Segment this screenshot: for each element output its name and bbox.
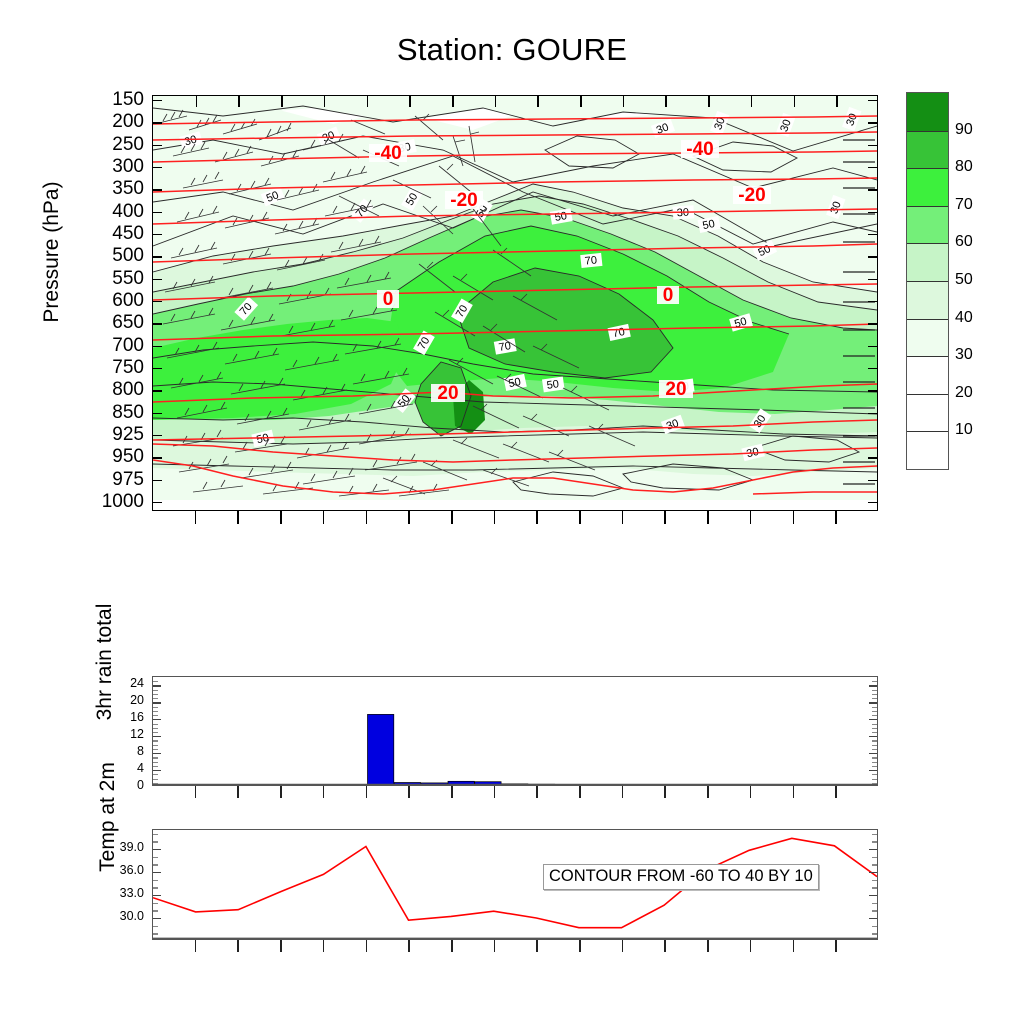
rain-minor-tick bbox=[153, 762, 158, 763]
rain-minor-tick bbox=[153, 783, 158, 784]
rain-minor-tick bbox=[872, 762, 877, 763]
rain-tick bbox=[869, 702, 877, 703]
svg-text:50: 50 bbox=[554, 210, 568, 224]
svg-text:-20: -20 bbox=[738, 185, 765, 206]
temp-minor-tick bbox=[153, 864, 158, 865]
pressure-tick bbox=[868, 457, 877, 458]
colorbar-tick-label: 70 bbox=[955, 196, 973, 214]
temp-minor-tick bbox=[872, 887, 877, 888]
pressure-tick bbox=[153, 346, 162, 347]
pressure-tick-label: 550 bbox=[112, 269, 144, 288]
temp-minor-tick bbox=[872, 910, 877, 911]
temp-tick-label: 33.0 bbox=[120, 887, 144, 900]
svg-text:-40: -40 bbox=[686, 139, 713, 160]
rain-tick-label: 8 bbox=[137, 745, 144, 758]
svg-text:20: 20 bbox=[437, 383, 458, 404]
colorbar-segment bbox=[907, 206, 948, 244]
pressure-tick bbox=[868, 100, 877, 101]
colorbar-segment bbox=[907, 431, 948, 469]
time-tick bbox=[280, 511, 282, 524]
pressure-tick-label: 300 bbox=[112, 157, 144, 176]
pressure-tick bbox=[153, 167, 162, 168]
pressure-tick-label: 450 bbox=[112, 224, 144, 243]
pressure-tick bbox=[153, 480, 162, 481]
temp-minor-tick bbox=[872, 926, 877, 927]
rain-time-tick bbox=[793, 786, 795, 798]
pressure-tick-label: 400 bbox=[112, 202, 144, 221]
temp-minor-tick bbox=[153, 857, 158, 858]
temp-time-tick bbox=[622, 940, 624, 952]
rain-minor-tick bbox=[872, 732, 877, 733]
colorbar-tick-label: 60 bbox=[955, 233, 973, 251]
time-tick-top bbox=[623, 96, 625, 107]
time-tick bbox=[237, 511, 239, 524]
colorbar-segment bbox=[907, 131, 948, 169]
colorbar-divider bbox=[907, 243, 948, 244]
rain-minor-tick bbox=[153, 690, 158, 691]
rain-minor-tick bbox=[872, 694, 877, 695]
time-tick bbox=[451, 511, 453, 524]
colorbar-tick-label: 50 bbox=[955, 271, 973, 289]
rain-panel bbox=[152, 676, 878, 786]
rain-minor-tick bbox=[872, 711, 877, 712]
colorbar-divider bbox=[907, 131, 948, 132]
time-tick-top bbox=[281, 96, 283, 107]
pressure-tick bbox=[868, 346, 877, 347]
pressure-tick bbox=[153, 435, 162, 436]
rain-tick-label: 20 bbox=[130, 694, 144, 707]
rain-time-tick bbox=[494, 786, 496, 798]
temp-tick bbox=[869, 918, 877, 919]
colorbar-segment bbox=[907, 356, 948, 394]
temp-minor-tick bbox=[153, 887, 158, 888]
colorbar-divider bbox=[907, 356, 948, 357]
pressure-tick bbox=[153, 145, 162, 146]
rain-tick-label: 24 bbox=[130, 677, 144, 690]
rain-tick bbox=[869, 770, 877, 771]
pressure-tick bbox=[868, 301, 877, 302]
colorbar-divider bbox=[907, 319, 948, 320]
rain-time-tick bbox=[366, 786, 368, 798]
temp-time-tick bbox=[664, 940, 666, 952]
pressure-tick-label: 800 bbox=[112, 380, 144, 399]
rain-tick bbox=[153, 702, 161, 703]
temp-minor-tick bbox=[153, 880, 158, 881]
rain-minor-tick bbox=[872, 707, 877, 708]
colorbar-tick-label: 10 bbox=[955, 421, 973, 439]
temp-time-tick bbox=[195, 940, 197, 952]
rain-minor-tick bbox=[872, 740, 877, 741]
rain-minor-tick bbox=[153, 740, 158, 741]
time-tick bbox=[622, 511, 624, 524]
pressure-tick bbox=[153, 413, 162, 414]
rain-minor-tick bbox=[153, 707, 158, 708]
rain-tick bbox=[153, 685, 161, 686]
time-tick-top bbox=[196, 96, 198, 107]
svg-text:0: 0 bbox=[663, 285, 674, 306]
rain-tick-label: 16 bbox=[130, 711, 144, 724]
temp-minor-tick bbox=[872, 903, 877, 904]
temp-tick bbox=[153, 872, 161, 873]
colorbar-divider bbox=[907, 206, 948, 207]
temp-minor-tick bbox=[872, 933, 877, 934]
rain-minor-tick bbox=[153, 766, 158, 767]
rain-time-tick bbox=[408, 786, 410, 798]
rain-tick bbox=[153, 736, 161, 737]
colorbar-tick-label: 80 bbox=[955, 158, 973, 176]
rain-minor-tick bbox=[872, 681, 877, 682]
rain-tick-label: 0 bbox=[137, 779, 144, 792]
svg-text:50: 50 bbox=[508, 376, 522, 390]
temp-minor-tick bbox=[153, 933, 158, 934]
temp-minor-tick bbox=[153, 834, 158, 835]
rain-time-tick bbox=[622, 786, 624, 798]
pressure-tick-label: 975 bbox=[112, 470, 144, 489]
temp-tick bbox=[153, 918, 161, 919]
pressure-axis-labels: 1502002503003504004505005506006507007508… bbox=[62, 95, 144, 511]
rain-minor-tick bbox=[872, 745, 877, 746]
rain-minor-tick bbox=[872, 774, 877, 775]
colorbar-segment bbox=[907, 394, 948, 432]
pressure-tick-label: 925 bbox=[112, 425, 144, 444]
rain-tick-label: 4 bbox=[137, 762, 144, 775]
temp-axis-labels: 30.033.036.039.0 bbox=[86, 829, 144, 940]
time-tick bbox=[366, 511, 368, 524]
time-tick-top bbox=[495, 96, 497, 107]
svg-text:20: 20 bbox=[665, 379, 686, 400]
rain-time-tick bbox=[536, 786, 538, 798]
temp-time-tick bbox=[323, 940, 325, 952]
time-tick-top bbox=[238, 96, 240, 107]
rain-minor-tick bbox=[153, 774, 158, 775]
time-tick-top bbox=[794, 96, 796, 107]
time-tick-top bbox=[537, 96, 539, 107]
time-tick bbox=[408, 511, 410, 524]
temp-time-tick bbox=[408, 940, 410, 952]
time-tick bbox=[536, 511, 538, 524]
pressure-tick bbox=[868, 167, 877, 168]
colorbar-divider bbox=[907, 431, 948, 432]
colorbar-divider bbox=[907, 281, 948, 282]
rain-minor-tick bbox=[872, 690, 877, 691]
svg-text:50: 50 bbox=[702, 218, 716, 232]
cross-section-plot-area: 30 30 30 30 30 30 30 30 30 50 50 50 50 5… bbox=[152, 95, 878, 511]
pressure-tick bbox=[153, 122, 162, 123]
temp-minor-tick bbox=[872, 834, 877, 835]
pressure-tick bbox=[153, 323, 162, 324]
colorbar-segment bbox=[907, 243, 948, 281]
rain-time-tick bbox=[664, 786, 666, 798]
pressure-tick bbox=[868, 368, 877, 369]
pressure-tick bbox=[868, 435, 877, 436]
rain-minor-tick bbox=[153, 728, 158, 729]
pressure-tick-label: 350 bbox=[112, 179, 144, 198]
colorbar-tick-label: 20 bbox=[955, 384, 973, 402]
temp-tick bbox=[153, 895, 161, 896]
time-tick-top bbox=[452, 96, 454, 107]
rain-time-tick bbox=[195, 786, 197, 798]
rain-minor-tick bbox=[153, 732, 158, 733]
rain-tick-label: 12 bbox=[130, 728, 144, 741]
svg-text:-40: -40 bbox=[374, 143, 401, 164]
pressure-tick-label: 500 bbox=[112, 246, 144, 265]
temp-minor-tick bbox=[872, 864, 877, 865]
colorbar bbox=[906, 92, 949, 470]
rain-minor-tick bbox=[153, 724, 158, 725]
temp-tick-label: 39.0 bbox=[120, 841, 144, 854]
temp-minor-tick bbox=[153, 903, 158, 904]
humidity-temperature-wind-plot: 30 30 30 30 30 30 30 30 30 50 50 50 50 5… bbox=[153, 96, 877, 510]
temp-time-tick bbox=[707, 940, 709, 952]
time-tick-top bbox=[580, 96, 582, 107]
rain-minor-tick bbox=[153, 681, 158, 682]
time-tick bbox=[664, 511, 666, 524]
rain-minor-tick bbox=[153, 711, 158, 712]
pressure-tick bbox=[153, 368, 162, 369]
pressure-tick bbox=[868, 256, 877, 257]
rain-time-tick bbox=[280, 786, 282, 798]
svg-text:0: 0 bbox=[383, 289, 394, 310]
pressure-tick bbox=[153, 301, 162, 302]
pressure-axis-title: Pressure (hPa) bbox=[40, 137, 64, 367]
rain-time-tick bbox=[237, 786, 239, 798]
pressure-tick-label: 150 bbox=[112, 90, 144, 109]
pressure-tick bbox=[153, 457, 162, 458]
temp-tick bbox=[869, 849, 877, 850]
colorbar-segment bbox=[907, 93, 948, 131]
temp-minor-tick bbox=[872, 857, 877, 858]
temp-time-tick bbox=[237, 940, 239, 952]
rain-time-tick bbox=[750, 786, 752, 798]
rain-minor-tick bbox=[872, 766, 877, 767]
pressure-tick bbox=[868, 502, 877, 503]
pressure-tick-label: 750 bbox=[112, 358, 144, 377]
rain-time-tick bbox=[835, 786, 837, 798]
pressure-tick-label: 200 bbox=[112, 112, 144, 131]
time-tick-top bbox=[409, 96, 411, 107]
colorbar-labels: 908070605040302010 bbox=[955, 92, 1015, 470]
pressure-tick-label: 1000 bbox=[102, 492, 144, 511]
rain-minor-tick bbox=[872, 724, 877, 725]
pressure-tick bbox=[868, 480, 877, 481]
pressure-tick bbox=[868, 279, 877, 280]
colorbar-tick-label: 90 bbox=[955, 121, 973, 139]
rain-minor-tick bbox=[153, 715, 158, 716]
rain-tick bbox=[153, 753, 161, 754]
pressure-tick bbox=[868, 122, 877, 123]
svg-text:70: 70 bbox=[612, 326, 626, 340]
pressure-tick bbox=[868, 145, 877, 146]
time-tick bbox=[835, 511, 837, 524]
temp-tick-label: 36.0 bbox=[120, 864, 144, 877]
time-tick-top bbox=[836, 96, 838, 107]
temp-time-tick bbox=[494, 940, 496, 952]
rain-tick bbox=[869, 736, 877, 737]
rain-tick bbox=[869, 719, 877, 720]
rain-tick bbox=[869, 685, 877, 686]
pressure-tick bbox=[153, 390, 162, 391]
colorbar-segment bbox=[907, 319, 948, 357]
time-tick bbox=[579, 511, 581, 524]
rain-time-tick bbox=[707, 786, 709, 798]
cross-section-panel: 30 30 30 30 30 30 30 30 30 50 50 50 50 5… bbox=[152, 95, 878, 511]
colorbar-divider bbox=[907, 394, 948, 395]
svg-text:50: 50 bbox=[546, 378, 560, 392]
rain-minor-tick bbox=[872, 749, 877, 750]
pressure-tick bbox=[153, 279, 162, 280]
rain-minor-tick bbox=[153, 779, 158, 780]
rain-minor-tick bbox=[872, 783, 877, 784]
pressure-tick-label: 600 bbox=[112, 291, 144, 310]
colorbar-segment bbox=[907, 281, 948, 319]
svg-text:30: 30 bbox=[676, 207, 689, 220]
rain-minor-tick bbox=[153, 698, 158, 699]
pressure-tick bbox=[868, 413, 877, 414]
temp-time-tick bbox=[366, 940, 368, 952]
pressure-tick bbox=[868, 212, 877, 213]
rain-tick bbox=[869, 753, 877, 754]
time-tick-top bbox=[708, 96, 710, 107]
colorbar-tick-label: 30 bbox=[955, 346, 973, 364]
svg-text:-20: -20 bbox=[450, 190, 477, 211]
time-tick bbox=[494, 511, 496, 524]
time-tick-top bbox=[665, 96, 667, 107]
temp-time-tick bbox=[536, 940, 538, 952]
rain-time-tick bbox=[451, 786, 453, 798]
rain-minor-tick bbox=[153, 745, 158, 746]
rain-bar-chart bbox=[153, 677, 877, 785]
colorbar-segment bbox=[907, 168, 948, 206]
temp-tick bbox=[869, 872, 877, 873]
pressure-tick bbox=[153, 100, 162, 101]
rain-minor-tick bbox=[153, 757, 158, 758]
pressure-tick bbox=[153, 256, 162, 257]
temp-time-tick bbox=[835, 940, 837, 952]
time-tick bbox=[323, 511, 325, 524]
pressure-tick-label: 850 bbox=[112, 403, 144, 422]
pressure-tick-label: 250 bbox=[112, 135, 144, 154]
contour-annotation: CONTOUR FROM -60 TO 40 BY 10 bbox=[543, 864, 819, 890]
rain-minor-tick bbox=[153, 694, 158, 695]
rain-plot-area bbox=[152, 676, 878, 786]
pressure-tick bbox=[868, 189, 877, 190]
temp-minor-tick bbox=[153, 926, 158, 927]
rain-minor-tick bbox=[872, 715, 877, 716]
rain-minor-tick bbox=[872, 779, 877, 780]
time-tick bbox=[195, 511, 197, 524]
colorbar-tick-label: 40 bbox=[955, 309, 973, 327]
time-tick-top bbox=[324, 96, 326, 107]
rain-tick bbox=[153, 770, 161, 771]
pressure-tick bbox=[868, 323, 877, 324]
time-tick bbox=[750, 511, 752, 524]
temp-minor-tick bbox=[153, 910, 158, 911]
temp-minor-tick bbox=[872, 841, 877, 842]
temp-time-tick bbox=[793, 940, 795, 952]
temp-time-tick bbox=[750, 940, 752, 952]
time-tick bbox=[707, 511, 709, 524]
time-tick-top bbox=[367, 96, 369, 107]
pressure-tick bbox=[868, 234, 877, 235]
pressure-tick bbox=[153, 212, 162, 213]
rain-time-tick bbox=[579, 786, 581, 798]
rain-minor-tick bbox=[872, 698, 877, 699]
pressure-tick-label: 950 bbox=[112, 447, 144, 466]
temp-time-tick bbox=[280, 940, 282, 952]
pressure-tick bbox=[153, 234, 162, 235]
temp-tick bbox=[869, 895, 877, 896]
colorbar-divider bbox=[907, 168, 948, 169]
temp-minor-tick bbox=[153, 841, 158, 842]
pressure-tick bbox=[868, 390, 877, 391]
pressure-tick bbox=[153, 189, 162, 190]
svg-text:70: 70 bbox=[584, 254, 597, 267]
pressure-tick-label: 700 bbox=[112, 336, 144, 355]
pressure-tick-label: 650 bbox=[112, 313, 144, 332]
rain-time-tick bbox=[323, 786, 325, 798]
rain-bar bbox=[368, 714, 394, 785]
temp-time-tick bbox=[451, 940, 453, 952]
temp-minor-tick bbox=[872, 880, 877, 881]
temp-time-tick bbox=[579, 940, 581, 952]
rain-minor-tick bbox=[872, 728, 877, 729]
temp-tick-label: 30.0 bbox=[120, 910, 144, 923]
pressure-tick bbox=[153, 502, 162, 503]
rain-tick bbox=[153, 719, 161, 720]
time-tick-top bbox=[751, 96, 753, 107]
page-title: Station: GOURE bbox=[0, 32, 1024, 68]
time-tick bbox=[793, 511, 795, 524]
temp-tick bbox=[153, 849, 161, 850]
rain-minor-tick bbox=[872, 757, 877, 758]
rain-minor-tick bbox=[153, 749, 158, 750]
